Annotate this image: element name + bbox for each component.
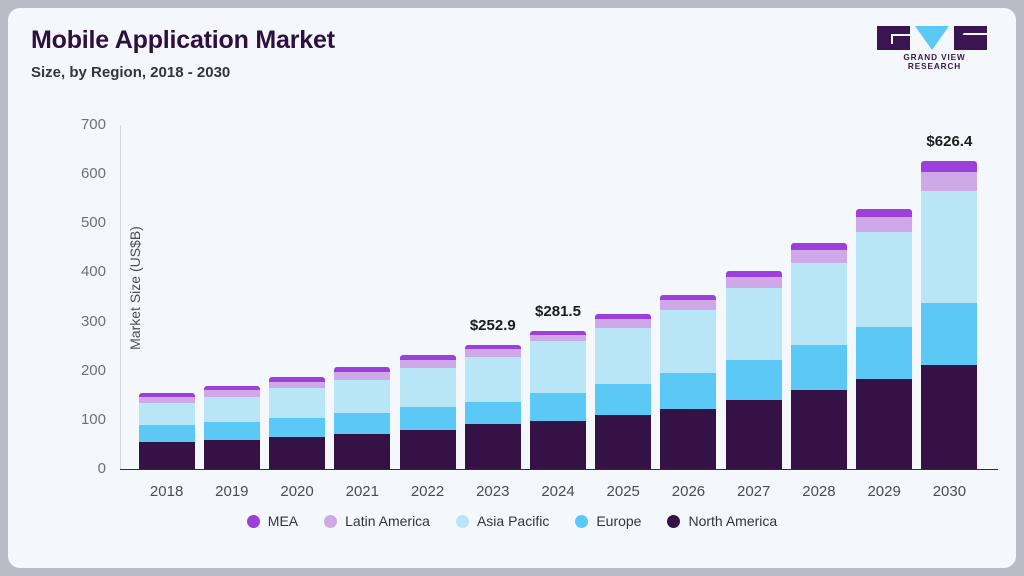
legend-swatch-icon (247, 515, 260, 528)
bar-segment-2020-asia-pacific[interactable] (269, 388, 325, 417)
bar-segment-2022-mea[interactable] (400, 355, 456, 360)
x-axis-tick-2027: 2027 (726, 483, 782, 500)
legend-label: Europe (596, 513, 641, 529)
bar-segment-2027-latin-america[interactable] (726, 277, 782, 288)
bar-2029[interactable] (856, 209, 912, 469)
x-axis-tick-2030: 2030 (921, 483, 977, 500)
logo-text: GRAND VIEW RESEARCH (877, 53, 992, 71)
bar-segment-2027-north-america[interactable] (726, 400, 782, 469)
bar-segment-2025-europe[interactable] (595, 384, 651, 415)
bar-segment-2028-north-america[interactable] (791, 390, 847, 469)
y-axis-tick-700: 700 (60, 116, 106, 133)
bar-segment-2024-europe[interactable] (530, 393, 586, 421)
y-axis-line (120, 125, 121, 469)
bar-segment-2030-asia-pacific[interactable] (921, 191, 977, 303)
bar-2020[interactable] (269, 377, 325, 469)
bar-segment-2029-mea[interactable] (856, 209, 912, 217)
x-axis-tick-2023: 2023 (465, 483, 521, 500)
bar-segment-2024-latin-america[interactable] (530, 335, 586, 341)
legend-item-asia-pacific[interactable]: Asia Pacific (456, 513, 549, 529)
bar-segment-2027-mea[interactable] (726, 271, 782, 277)
bar-2023[interactable] (465, 345, 521, 469)
bar-2025[interactable] (595, 314, 651, 469)
bar-segment-2018-asia-pacific[interactable] (139, 403, 195, 425)
y-axis-tick-300: 300 (60, 313, 106, 330)
bar-segment-2018-latin-america[interactable] (139, 397, 195, 403)
bar-segment-2025-asia-pacific[interactable] (595, 328, 651, 384)
x-axis-line (120, 469, 998, 470)
bar-segment-2020-north-america[interactable] (269, 437, 325, 469)
bar-value-label-2030: $626.4 (926, 133, 972, 150)
bar-segment-2027-asia-pacific[interactable] (726, 288, 782, 360)
bar-segment-2028-asia-pacific[interactable] (791, 263, 847, 346)
bar-2028[interactable] (791, 243, 847, 469)
bar-2021[interactable] (334, 367, 390, 469)
legend-item-north-america[interactable]: North America (667, 513, 777, 529)
bar-segment-2019-mea[interactable] (204, 386, 260, 390)
y-axis-tick-400: 400 (60, 263, 106, 280)
bar-segment-2026-asia-pacific[interactable] (660, 310, 716, 373)
bar-segment-2026-europe[interactable] (660, 373, 716, 408)
x-axis-tick-2025: 2025 (595, 483, 651, 500)
bar-2027[interactable] (726, 271, 782, 469)
legend-label: Asia Pacific (477, 513, 549, 529)
y-axis-tick-100: 100 (60, 411, 106, 428)
bar-segment-2021-north-america[interactable] (334, 434, 390, 469)
bar-segment-2027-europe[interactable] (726, 360, 782, 400)
legend-swatch-icon (456, 515, 469, 528)
chart-card: Mobile Application Market Size, by Regio… (8, 8, 1016, 568)
y-axis-tick-500: 500 (60, 214, 106, 231)
bar-segment-2021-europe[interactable] (334, 413, 390, 434)
bar-2024[interactable] (530, 331, 586, 469)
x-axis-tick-2019: 2019 (204, 483, 260, 500)
bar-segment-2030-mea[interactable] (921, 161, 977, 171)
y-axis-tick-200: 200 (60, 362, 106, 379)
bar-segment-2028-latin-america[interactable] (791, 250, 847, 263)
bar-segment-2023-north-america[interactable] (465, 424, 521, 469)
bar-segment-2019-latin-america[interactable] (204, 390, 260, 396)
bar-segment-2025-mea[interactable] (595, 314, 651, 319)
legend-item-europe[interactable]: Europe (575, 513, 641, 529)
legend-swatch-icon (667, 515, 680, 528)
bar-segment-2025-north-america[interactable] (595, 415, 651, 469)
bar-segment-2026-latin-america[interactable] (660, 300, 716, 310)
legend-item-mea[interactable]: MEA (247, 513, 298, 529)
bar-segment-2029-north-america[interactable] (856, 379, 912, 469)
logo-g-icon (877, 26, 910, 50)
legend-label: MEA (268, 513, 298, 529)
y-axis-tick-0: 0 (60, 460, 106, 477)
bar-segment-2029-asia-pacific[interactable] (856, 232, 912, 326)
bar-segment-2018-europe[interactable] (139, 425, 195, 442)
chart-legend: MEALatin AmericaAsia PacificEuropeNorth … (8, 513, 1016, 529)
x-axis-tick-2018: 2018 (139, 483, 195, 500)
legend-swatch-icon (324, 515, 337, 528)
bar-segment-2019-north-america[interactable] (204, 440, 260, 469)
legend-label: Latin America (345, 513, 430, 529)
x-axis-tick-2024: 2024 (530, 483, 586, 500)
bar-segment-2023-asia-pacific[interactable] (465, 357, 521, 401)
bar-segment-2030-latin-america[interactable] (921, 172, 977, 192)
bar-segment-2029-latin-america[interactable] (856, 217, 912, 232)
bar-2019[interactable] (204, 386, 260, 469)
y-axis-tick-600: 600 (60, 165, 106, 182)
bar-segment-2021-mea[interactable] (334, 367, 390, 372)
bar-segment-2020-europe[interactable] (269, 418, 325, 437)
bar-segment-2024-north-america[interactable] (530, 421, 586, 469)
bar-segment-2026-north-america[interactable] (660, 409, 716, 469)
legend-label: North America (688, 513, 777, 529)
bar-segment-2023-mea[interactable] (465, 345, 521, 349)
bar-segment-2021-latin-america[interactable] (334, 372, 390, 380)
bar-segment-2029-europe[interactable] (856, 327, 912, 380)
bar-segment-2030-north-america[interactable] (921, 365, 977, 469)
bar-segment-2019-asia-pacific[interactable] (204, 397, 260, 422)
bar-segment-2028-europe[interactable] (791, 345, 847, 390)
bar-segment-2024-asia-pacific[interactable] (530, 341, 586, 393)
bar-segment-2023-latin-america[interactable] (465, 349, 521, 358)
bar-segment-2022-north-america[interactable] (400, 430, 456, 469)
bar-2030[interactable] (921, 161, 977, 469)
bar-segment-2022-asia-pacific[interactable] (400, 368, 456, 407)
grand-view-research-logo: GRAND VIEW RESEARCH (877, 26, 992, 66)
bar-segment-2030-europe[interactable] (921, 303, 977, 364)
bar-segment-2025-latin-america[interactable] (595, 319, 651, 328)
bar-segment-2024-mea[interactable] (530, 331, 586, 335)
x-axis-tick-2029: 2029 (856, 483, 912, 500)
page-subtitle: Size, by Region, 2018 - 2030 (31, 64, 230, 81)
bar-segment-2020-latin-america[interactable] (269, 382, 325, 389)
x-axis-tick-2020: 2020 (269, 483, 325, 500)
bar-segment-2020-mea[interactable] (269, 377, 325, 381)
bar-segment-2028-mea[interactable] (791, 243, 847, 250)
bar-2022[interactable] (400, 355, 456, 470)
bar-value-label-2024: $281.5 (535, 303, 581, 320)
y-axis-title: Market Size (US$B) (127, 178, 143, 398)
bar-2018[interactable] (139, 393, 195, 469)
page-title: Mobile Application Market (31, 26, 335, 55)
bar-segment-2023-europe[interactable] (465, 402, 521, 424)
logo-r-icon (954, 26, 987, 50)
bar-segment-2022-latin-america[interactable] (400, 360, 456, 368)
x-axis-tick-2026: 2026 (660, 483, 716, 500)
bar-value-label-2023: $252.9 (470, 317, 516, 334)
bar-segment-2026-mea[interactable] (660, 295, 716, 300)
x-axis-tick-2028: 2028 (791, 483, 847, 500)
bar-segment-2018-north-america[interactable] (139, 442, 195, 469)
logo-v-icon (915, 26, 949, 50)
bar-segment-2022-europe[interactable] (400, 407, 456, 430)
bar-segment-2019-europe[interactable] (204, 422, 260, 440)
bar-2026[interactable] (660, 295, 716, 469)
legend-swatch-icon (575, 515, 588, 528)
x-axis-tick-2021: 2021 (334, 483, 390, 500)
bar-segment-2018-mea[interactable] (139, 393, 195, 397)
x-axis-tick-2022: 2022 (400, 483, 456, 500)
legend-item-latin-america[interactable]: Latin America (324, 513, 430, 529)
chart-plot-area: Market Size (US$B) 010020030040050060070… (120, 125, 998, 469)
bar-segment-2021-asia-pacific[interactable] (334, 380, 390, 413)
